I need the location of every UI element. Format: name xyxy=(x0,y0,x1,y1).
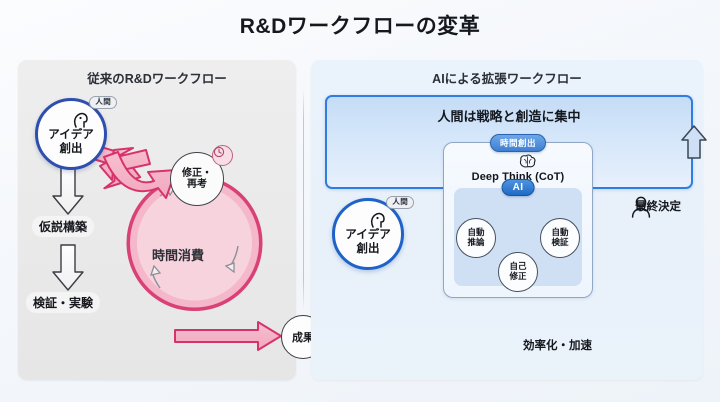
ai-idea-human-badge: 人間 xyxy=(386,196,414,209)
legacy-idea-human-badge: 人間 xyxy=(89,96,117,109)
focus-banner-title: 人間は戦略と創造に集中 xyxy=(327,106,691,125)
cot-node-auto-validation[interactable]: 自動 検証 xyxy=(540,218,580,258)
clock-icon xyxy=(212,145,233,166)
ai-pill: AI xyxy=(502,179,535,196)
cot-loop-area: AI 自動 推論 自動 検証 自己 修正 xyxy=(454,188,582,286)
page-title: R&Dワークフローの変革 xyxy=(0,10,720,40)
panel-divider xyxy=(303,88,304,310)
ai-idea-label-2: 創出 xyxy=(357,243,380,257)
legacy-panel-header: 従来のR&Dワークフロー xyxy=(18,68,296,87)
legacy-idea-label-1: アイデア xyxy=(48,129,93,143)
ai-idea-node[interactable]: 人間 アイデア 創出 xyxy=(332,198,404,270)
ai-panel-header: AIによる拡張ワークフロー xyxy=(311,68,703,87)
cot-node-self-correction[interactable]: 自己 修正 xyxy=(498,252,538,292)
legacy-step-hypothesis: 仮説構築 xyxy=(32,216,94,237)
legacy-step-validation: 検証・実験 xyxy=(26,292,100,313)
cot-node-auto-reasoning-label-2: 推論 xyxy=(467,238,484,248)
cot-node-auto-validation-label-2: 検証 xyxy=(551,238,568,248)
cot-node-self-correction-label-2: 修正 xyxy=(509,272,526,282)
deep-think-card: 時間創出 Deep Think (CoT) AI 自動 推論 自動 検証 自己 … xyxy=(443,142,593,298)
legacy-loop-label: 時間消費 xyxy=(152,245,204,264)
legacy-revise-label-1: 修正・ xyxy=(182,168,212,180)
final-decision-node[interactable]: 最終決定 xyxy=(628,196,688,214)
final-decision-label: 最終決定 xyxy=(628,198,688,214)
legacy-idea-label-2: 創出 xyxy=(60,143,83,157)
time-creation-badge: 時間創出 xyxy=(490,134,546,152)
efficiency-label: 効率化・加速 xyxy=(523,337,592,353)
diagram-root: R&Dワークフローの変革 従来のR&Dワークフロー xyxy=(0,0,720,402)
legacy-idea-node[interactable]: 人間 アイデア 創出 xyxy=(35,98,107,170)
legacy-revise-label-2: 再考 xyxy=(187,179,207,191)
ai-idea-label-1: アイデア xyxy=(345,229,390,243)
cot-node-auto-reasoning[interactable]: 自動 推論 xyxy=(456,218,496,258)
legacy-revise-node[interactable]: 修正・ 再考 xyxy=(170,152,224,206)
